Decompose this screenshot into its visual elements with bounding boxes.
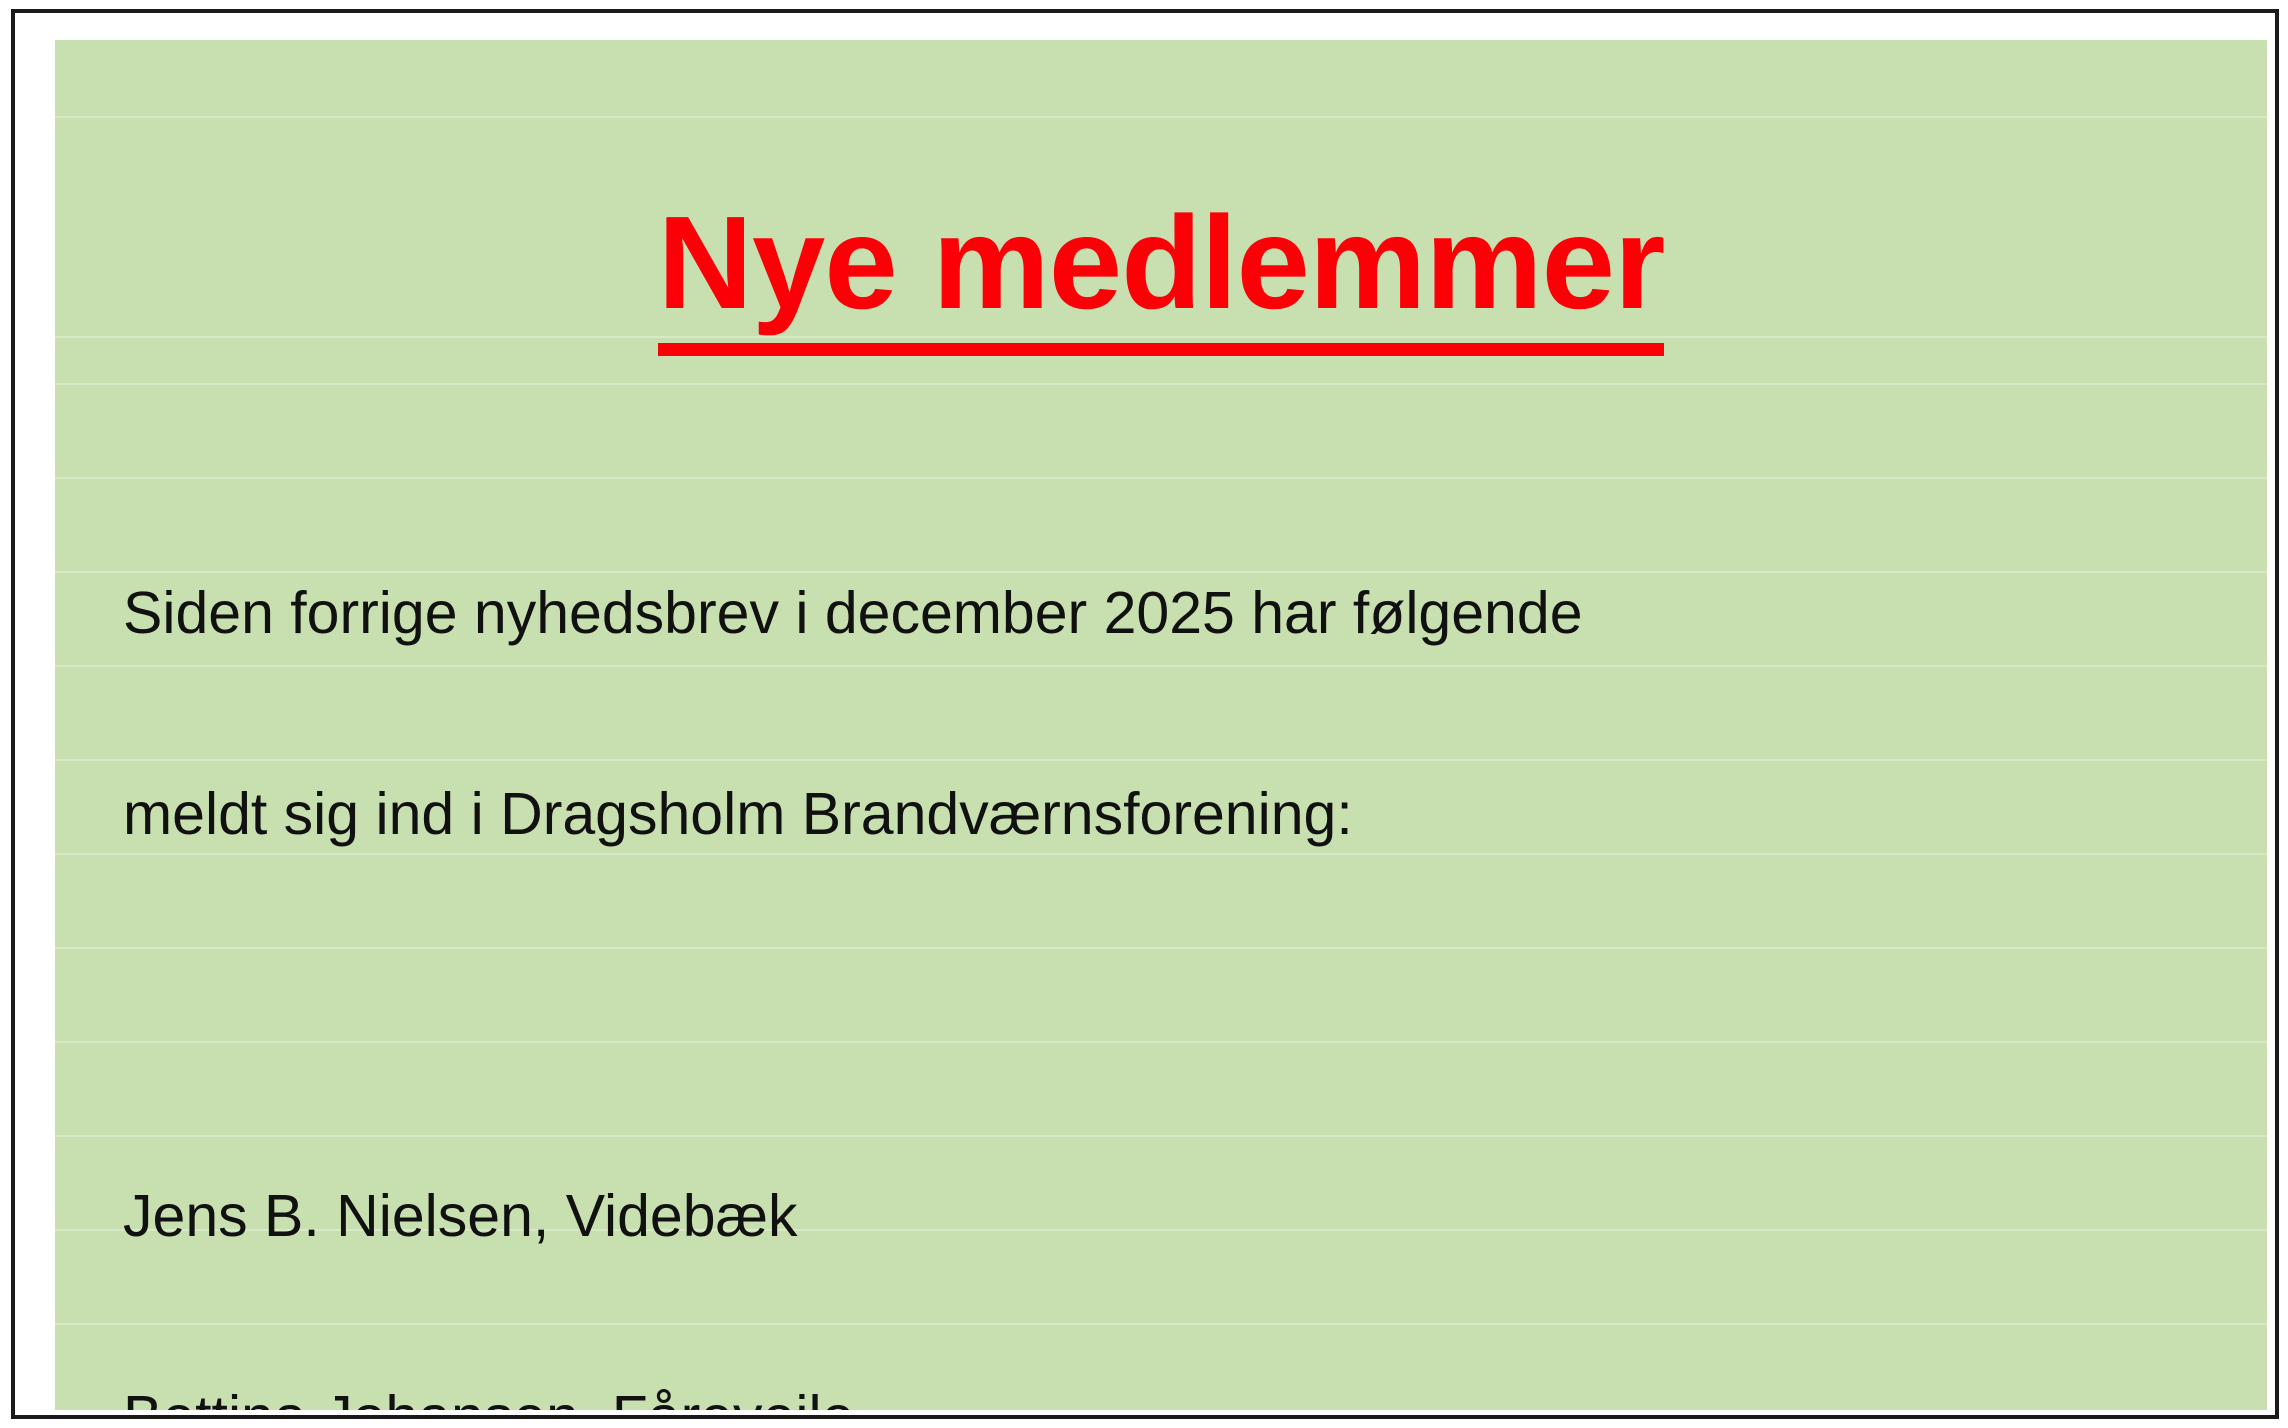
slide-outer-frame: Nye medlemmer Siden forrige nyhedsbrev i… — [11, 9, 2279, 1419]
body-spacer — [123, 982, 2173, 1049]
title-area: Nye medlemmer — [55, 106, 2267, 444]
intro-line-1: Siden forrige nyhedsbrev i december 2025… — [123, 580, 2173, 647]
intro-line-2: meldt sig ind i Dragsholm Brandværnsfore… — [123, 781, 2173, 848]
member-list-item: Jens B. Nielsen, Videbæk — [123, 1183, 2173, 1250]
slide-content-panel: Nye medlemmer Siden forrige nyhedsbrev i… — [55, 40, 2267, 1410]
slide-root: Nye medlemmer Siden forrige nyhedsbrev i… — [0, 0, 2288, 1428]
slide-body: Siden forrige nyhedsbrev i december 2025… — [123, 446, 2173, 1410]
page-title: Nye medlemmer — [658, 194, 1665, 356]
member-list-item: Bettina Johansen, Fårevejle — [123, 1384, 2173, 1410]
